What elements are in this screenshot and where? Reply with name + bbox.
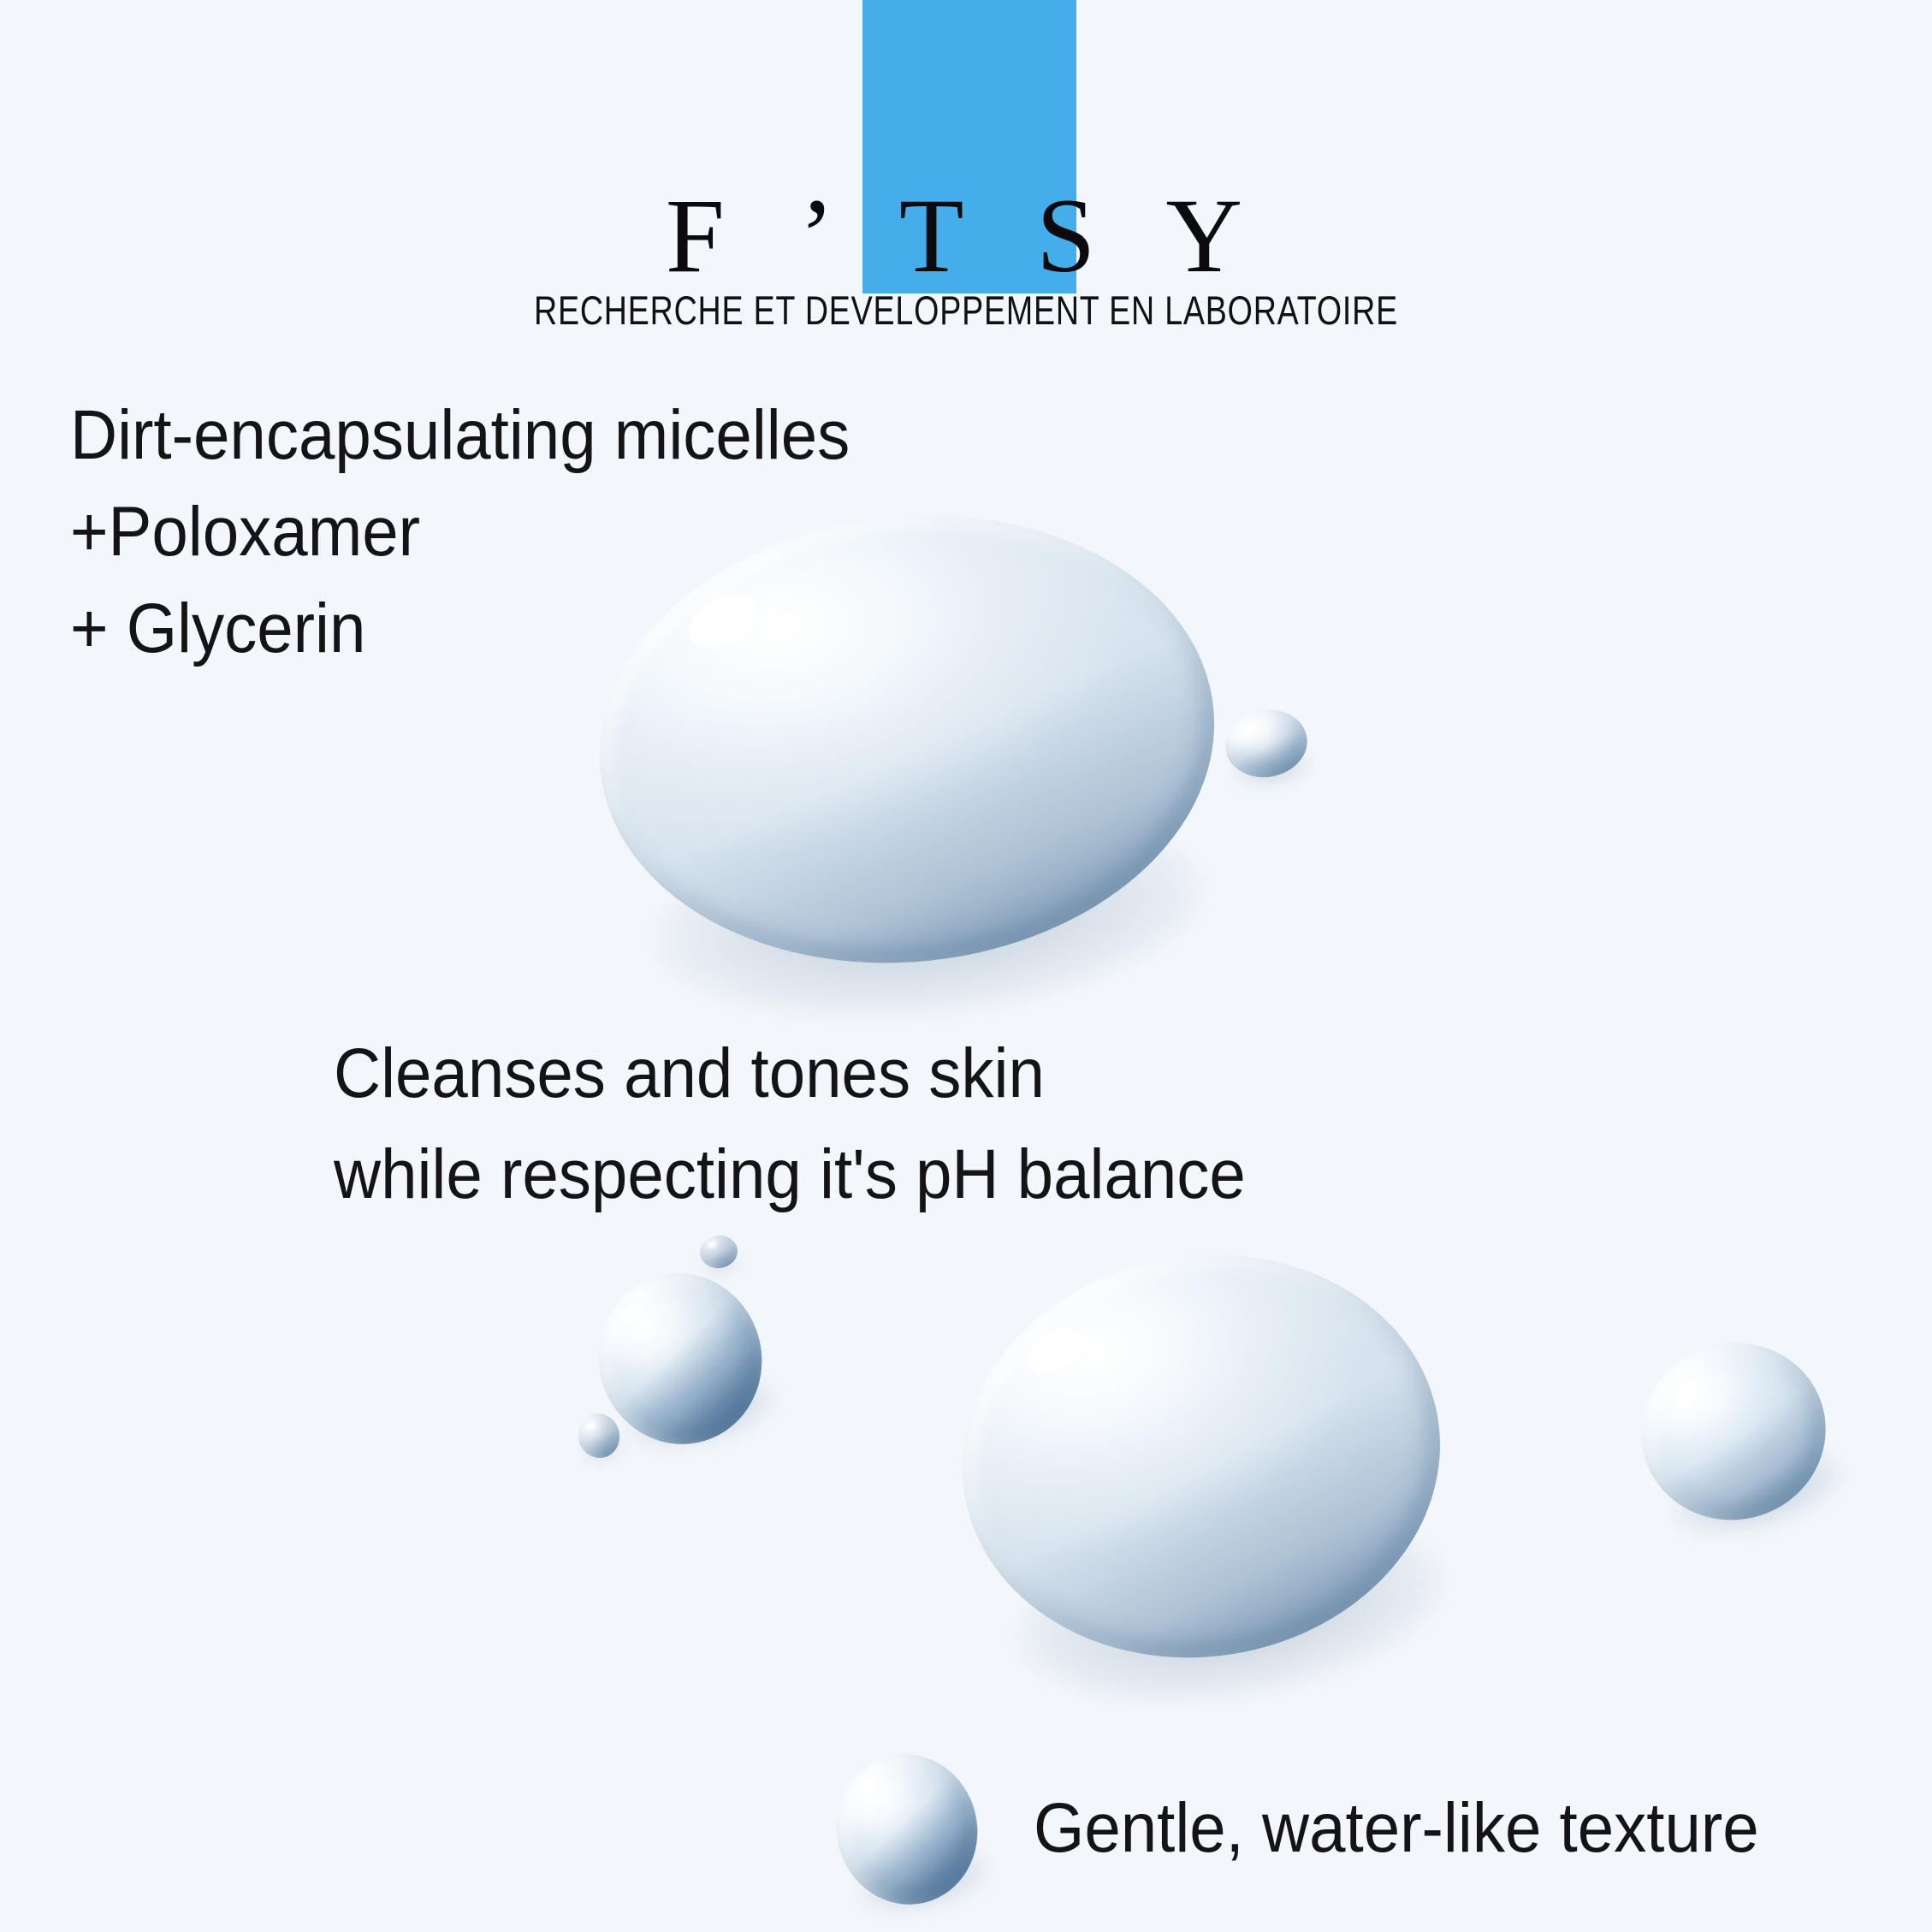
- droplet-rim: [1621, 1321, 1846, 1542]
- water-droplet-right: [1621, 1321, 1846, 1542]
- copy-benefit: Cleanses and tones skin while respecting…: [334, 1023, 1246, 1225]
- water-droplet-main-bottom: [933, 1221, 1469, 1692]
- brand-wordmark: F ’ T S Y: [0, 183, 1932, 289]
- water-droplet-cluster-tiny-upper: [698, 1233, 740, 1271]
- copy-ingredients: Dirt-encapsulating micelles +Poloxamer +…: [70, 387, 850, 677]
- brand-logo: F ’ T S Y RECHERCHE ET DEVELOPPEMENT EN …: [0, 0, 1932, 342]
- brand-tagline: RECHERCHE ET DEVELOPPEMENT EN LABORATOIR…: [193, 289, 1739, 332]
- water-droplet-satellite-top: [1220, 703, 1313, 783]
- product-graphic-canvas: F ’ T S Y RECHERCHE ET DEVELOPPEMENT EN …: [0, 0, 1932, 1932]
- water-droplet-cluster-tiny-lower: [574, 1410, 624, 1462]
- copy-texture: Gentle, water-like texture: [1034, 1787, 1759, 1870]
- water-droplet-bottom-left: [821, 1740, 992, 1918]
